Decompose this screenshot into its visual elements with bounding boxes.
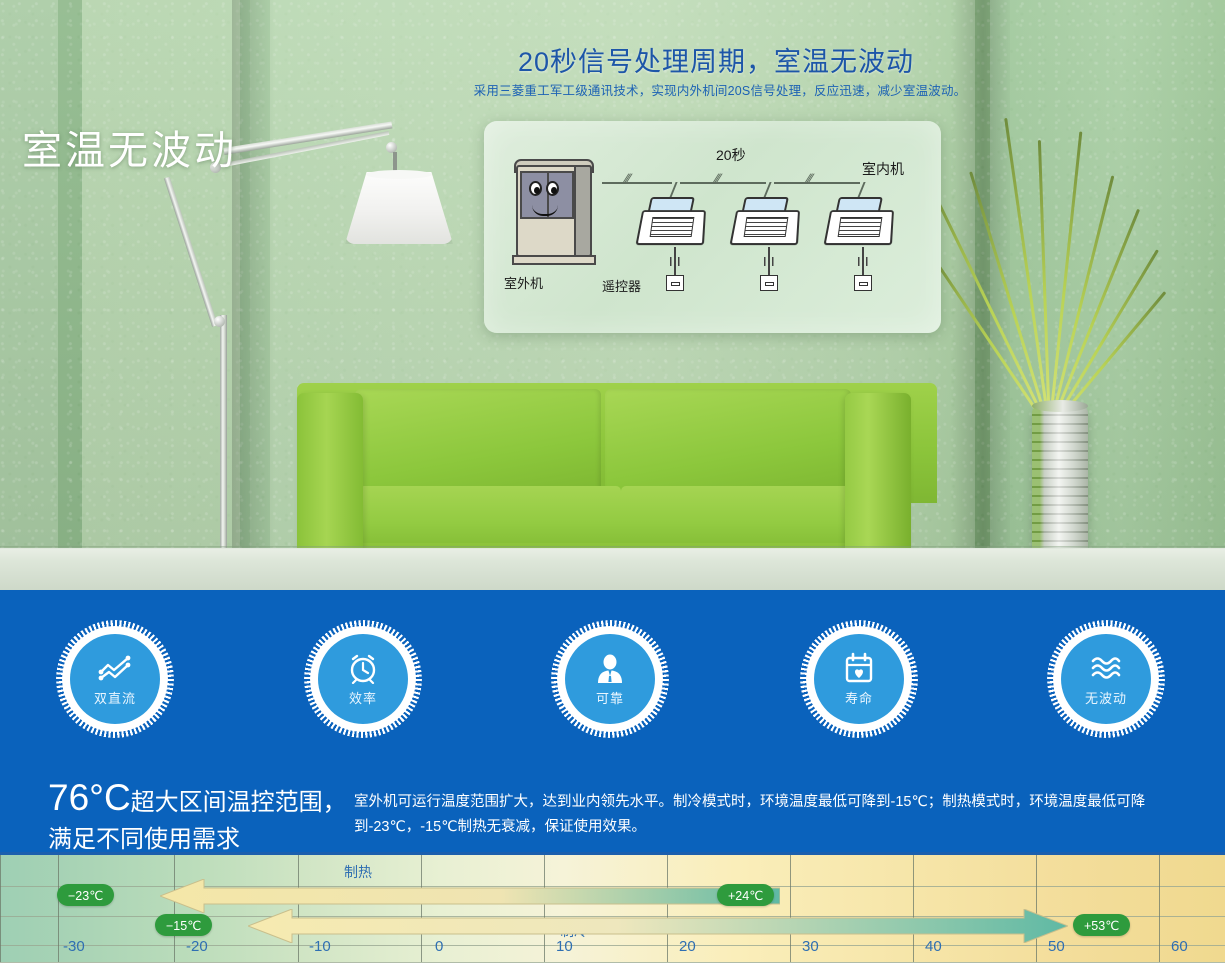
indoor-unit-3 [827,197,893,247]
badge-body: 可靠 [565,634,655,724]
floor [0,548,1225,590]
sofa-back-cushion-right [605,389,851,501]
room-scene: 室温无波动 20秒信号处理周期，室温无波动 采用三菱重工军工级通讯技术，实现内外… [0,0,1225,590]
lamp-pole [220,315,227,565]
feature-badge-label: 效率 [349,688,377,707]
range-title-line2: 满足不同使用需求 [48,826,240,853]
badge-body: 寿命 [814,634,904,724]
feature-badge-no-fluctuation[interactable]: 无波动 [1053,626,1159,732]
feature-badge-dual-dc[interactable]: 双直流 [62,626,168,732]
feature-badge-label: 可靠 [596,688,624,707]
sofa-arm-left [297,393,363,568]
x-tick-label: 60 [1171,938,1188,955]
x-tick-label: 20 [679,938,696,955]
outdoor-unit-side [574,165,592,257]
remote-label: 遥控器 [602,276,641,295]
alarm-clock-icon [345,652,381,684]
feature-badge-reliable[interactable]: 可靠 [557,626,663,732]
chart-gridline-spacer [0,855,1,963]
floor-baseboard [0,546,1225,549]
cooling-max-badge: +53℃ [1073,914,1130,936]
indoor-unit-grill [650,217,695,237]
outdoor-unit-illustration [508,157,600,269]
indoor-unit-label: 室内机 [862,159,904,179]
feature-badge-row: 双直流 效率 [0,612,1225,732]
lamp-shade [345,172,453,244]
section-subtitle: 采用三菱重工军工级通讯技术，实现内外机间20S信号处理，反应迅速，减少室温波动。 [455,80,985,99]
indoor-unit-grill [744,217,789,237]
x-tick-label: 50 [1048,938,1065,955]
sofa-seat-cushion-left [359,486,621,548]
face-eye-left-icon [529,181,542,196]
x-tick-label: 40 [925,938,942,955]
cooling-range-arrow [248,909,1068,943]
person-icon [592,652,628,684]
bus-wire-3 [774,182,860,184]
lamp-arm-lower [164,177,218,327]
range-description: 室外机可运行温度范围扩大，达到业内领先水平。制冷模式时，环境温度最低可降到-15… [354,790,1192,840]
heating-range-arrow [160,879,780,913]
feature-badge-label: 寿命 [845,688,873,707]
waves-icon [1088,652,1124,684]
signal-diagram-card: 室外机 /// /// /// 20秒 室内机 [484,121,941,333]
temperature-range-chart: 制热 制冷 −23℃ [0,852,1225,963]
chart-gridline [58,855,59,963]
scene-overlay-title: 室温无波动 [22,118,237,176]
sofa-back-cushion-left [355,389,601,501]
diagram-canvas: 室外机 /// /// /// 20秒 室内机 [484,121,941,333]
indoor-unit-1 [639,197,705,247]
feature-badge-lifespan[interactable]: 寿命 [806,626,912,732]
indoor-unit-grill [838,217,883,237]
cycle-duration-label: 20秒 [716,145,746,165]
badge-body: 双直流 [70,634,160,724]
wire-break-3-icon: /// [803,171,813,186]
section-title: 20秒信号处理周期，室温无波动 [486,40,946,79]
sofa-arm-right [845,393,911,568]
outdoor-unit-foot [512,255,596,265]
range-title-rest: 超大区间温控范围， [131,789,347,816]
x-tick-label: 10 [556,938,573,955]
outdoor-unit-label: 室外机 [504,273,543,292]
coil-symbol-2-icon [764,257,774,266]
coil-symbol-3-icon [858,257,868,266]
remote-controller-1 [666,275,684,291]
heating-max-badge: +24℃ [717,884,774,906]
vase-rim [1032,400,1088,412]
chart-gridline [1159,855,1160,963]
x-tick-label: -10 [309,938,331,955]
bus-wire-2 [680,182,766,184]
lamp-joint-low [214,316,225,327]
x-tick-label: -20 [186,938,208,955]
coil-symbol-1-icon [670,257,680,266]
wire-break-1-icon: /// [621,171,631,186]
remote-controller-3 [854,275,872,291]
potted-grass-plant [1000,110,1160,580]
remote-controller-2 [760,275,778,291]
promo-page: 室温无波动 20秒信号处理周期，室温无波动 采用三菱重工军工级通讯技术，实现内外… [0,0,1225,963]
badge-body: 效率 [318,634,408,724]
x-tick-label: 30 [802,938,819,955]
x-tick-label: -30 [63,938,85,955]
dual-dc-chart-icon [97,652,133,684]
sofa-seat-cushion-right [621,486,883,548]
range-title-number: 76°C [48,777,131,818]
feature-badge-efficiency[interactable]: 效率 [310,626,416,732]
wire-break-2-icon: /// [711,171,721,186]
x-tick-label: 0 [435,938,443,955]
heating-min-badge: −23℃ [57,884,114,906]
indoor-unit-2 [733,197,799,247]
face-eye-right-icon [546,181,559,196]
feature-badge-label: 双直流 [94,688,136,707]
calendar-heart-icon [841,652,877,684]
feature-badge-label: 无波动 [1085,688,1127,707]
chart-row-divider-3 [0,945,1225,946]
cooling-min-badge: −15℃ [155,914,212,936]
range-title: 76°C超大区间温控范围， 满足不同使用需求 [48,772,348,856]
bus-wire-1 [602,182,672,184]
lamp-shade-top [366,170,432,179]
badge-body: 无波动 [1061,634,1151,724]
